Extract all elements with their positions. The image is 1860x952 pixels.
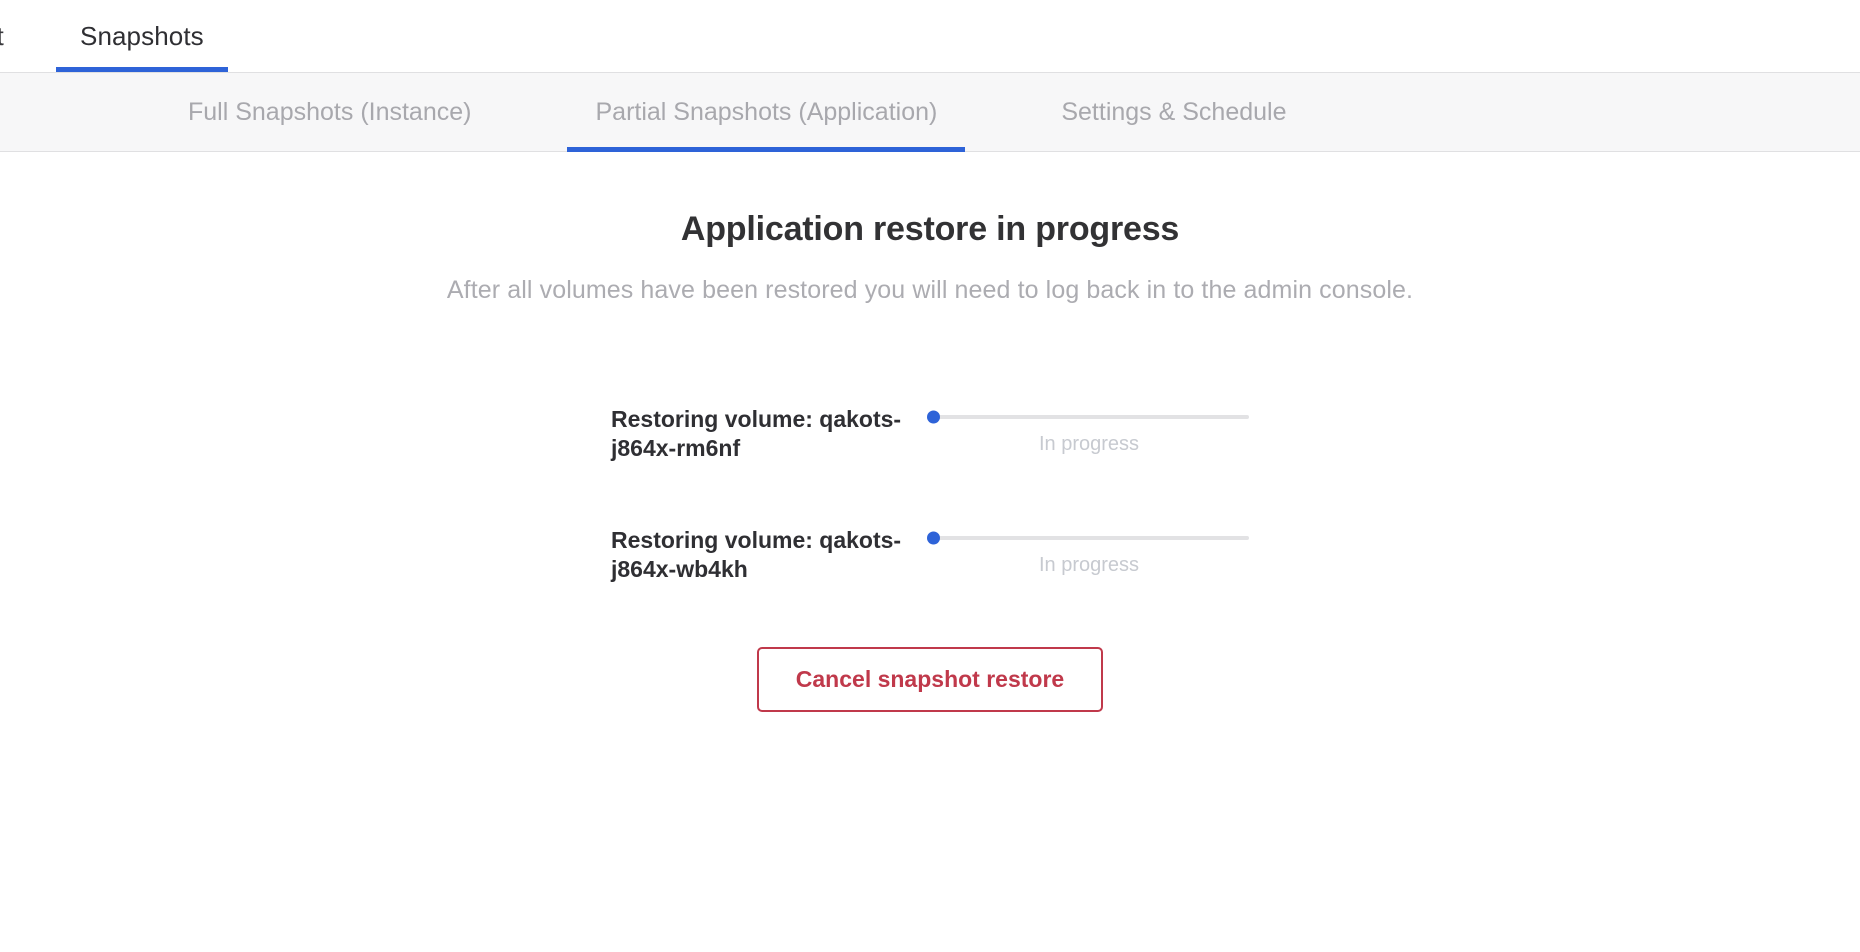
primary-tab-clipped-label: nt (0, 21, 4, 52)
volume-progress: In progress (929, 401, 1249, 456)
progress-dot-icon (927, 411, 940, 424)
volume-label: Restoring volume: qakots-j864x-wb4kh (611, 522, 929, 585)
volume-restore-list: Restoring volume: qakots-j864x-rm6nf In … (611, 401, 1249, 643)
tab-full-snapshots-label: Full Snapshots (Instance) (188, 98, 471, 127)
tab-full-snapshots[interactable]: Full Snapshots (Instance) (160, 73, 499, 151)
progress-track (929, 415, 1249, 419)
cancel-button-container: Cancel snapshot restore (0, 647, 1860, 712)
progress-status: In progress (929, 433, 1249, 456)
tab-settings-schedule-label: Settings & Schedule (1061, 98, 1286, 127)
primary-tab-snapshots-label: Snapshots (80, 21, 204, 52)
primary-tab-snapshots[interactable]: Snapshots (56, 0, 228, 72)
secondary-tab-bar: Full Snapshots (Instance) Partial Snapsh… (0, 72, 1860, 152)
primary-tab-clipped[interactable]: nt (0, 0, 26, 72)
progress-dot-icon (927, 531, 940, 544)
volume-progress: In progress (929, 522, 1249, 577)
main-content: Application restore in progress After al… (0, 152, 1860, 712)
volume-label: Restoring volume: qakots-j864x-rm6nf (611, 401, 929, 464)
progress-track (929, 536, 1249, 540)
page-title: Application restore in progress (0, 210, 1860, 249)
volume-restore-row: Restoring volume: qakots-j864x-wb4kh In … (611, 522, 1249, 585)
primary-tab-bar: nt Snapshots (0, 0, 1860, 72)
tab-partial-snapshots[interactable]: Partial Snapshots (Application) (567, 73, 965, 151)
progress-status: In progress (929, 554, 1249, 577)
tab-settings-schedule[interactable]: Settings & Schedule (1033, 73, 1314, 151)
page-subtitle: After all volumes have been restored you… (0, 276, 1860, 305)
tab-partial-snapshots-label: Partial Snapshots (Application) (595, 98, 937, 127)
volume-restore-row: Restoring volume: qakots-j864x-rm6nf In … (611, 401, 1249, 464)
cancel-snapshot-restore-button[interactable]: Cancel snapshot restore (757, 647, 1103, 712)
